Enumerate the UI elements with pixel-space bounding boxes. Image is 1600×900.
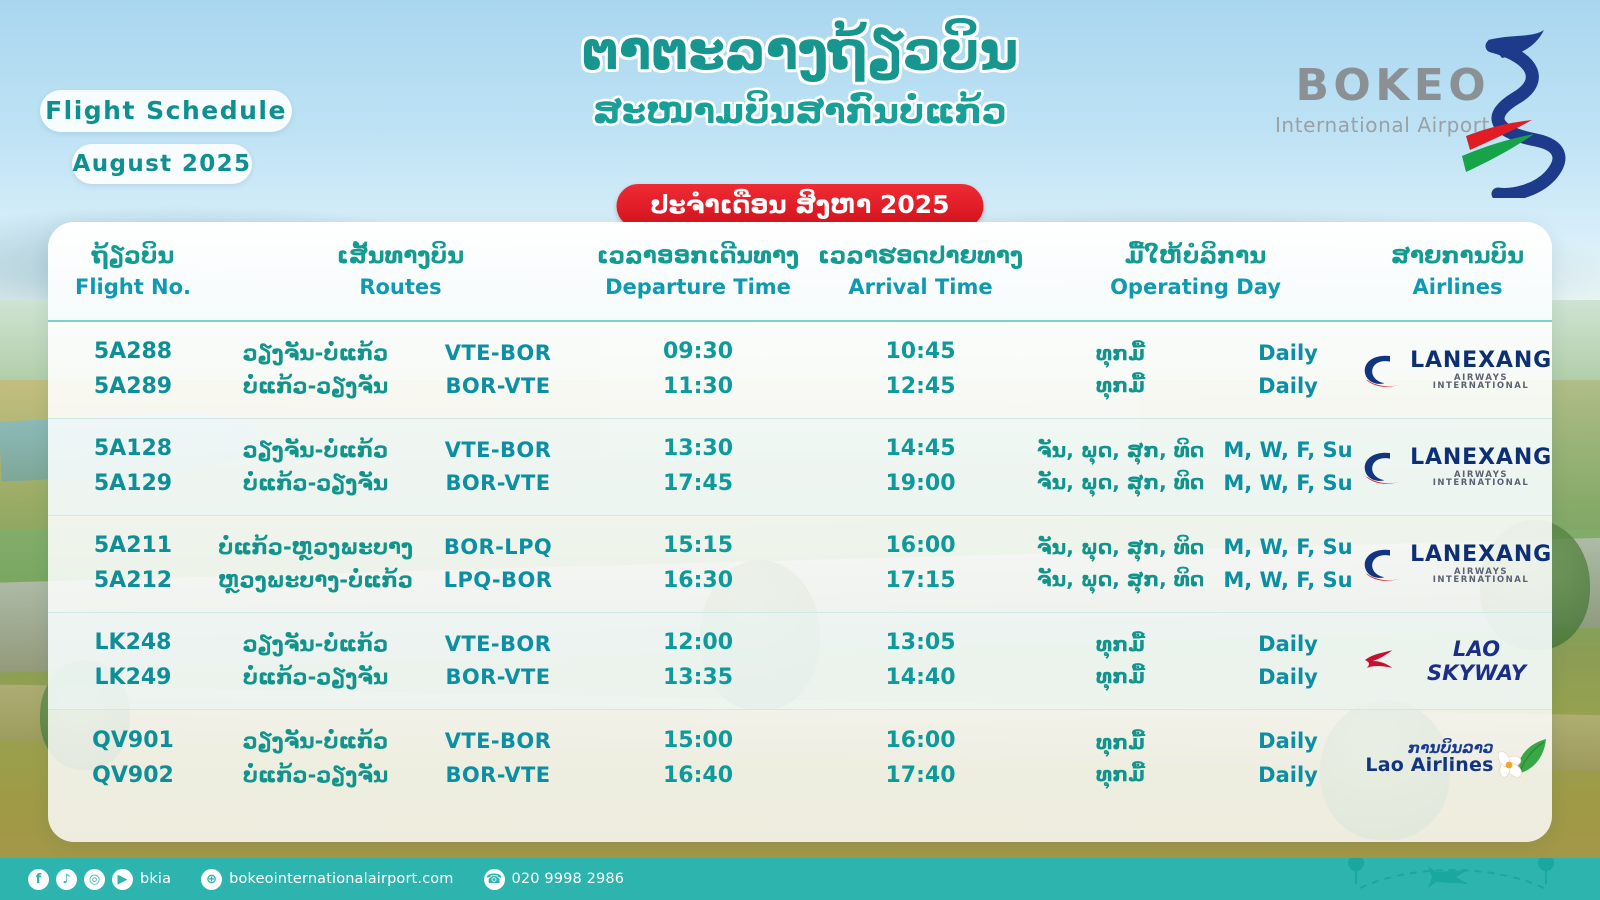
- facebook-icon[interactable]: f: [28, 869, 49, 890]
- cell-route-lao: ວຽງຈັນ-ບໍ່ແກ້ວບໍ່ແກ້ວ-ວຽງຈັນ: [218, 628, 413, 694]
- header-lao-label: ຖ້ຽວບິນ: [48, 243, 218, 269]
- page-header: Flight Schedule August 2025 ຕາຕະລາງຖ້ຽວບ…: [0, 0, 1600, 225]
- column-header-routes: ເສັ້ນທາງບິນ Routes: [218, 243, 583, 298]
- table-row: 5A2885A289ວຽງຈັນ-ບໍ່ແກ້ວບໍ່ແກ້ວ-ວຽງຈັນVT…: [48, 322, 1552, 419]
- flight-path-graphic: [1332, 858, 1572, 900]
- cell-route-lao: ບໍ່ແກ້ວ-ຫຼວງພະບາງຫຼວງພະບາງ-ບໍ່ແກ້ວ: [218, 531, 413, 597]
- lao-airlines-logo: ການບິນລາວLao Airlines: [1365, 736, 1549, 782]
- cell-operating-day-en: M, W, F, SuM, W, F, Su: [1213, 531, 1363, 597]
- lanexang-mark-icon: [1362, 350, 1403, 390]
- cell-operating-day-lao: ຈັນ, ພຸດ, ສຸກ, ທິດຈັນ, ພຸດ, ສຸກ, ທິດ: [1028, 435, 1213, 498]
- cell-departure-time: 15:1516:30: [583, 529, 813, 599]
- page-footer: f ♪ ◎ ▶ bkia ⊕ bokeointernationalairport…: [0, 858, 1600, 900]
- bokeo-airport-logo: BOKEO International Airport: [1240, 28, 1570, 198]
- header-en-label: Arrival Time: [813, 275, 1028, 299]
- instagram-icon[interactable]: ◎: [84, 869, 105, 890]
- cell-arrival-time: 16:0017:15: [813, 529, 1028, 599]
- cell-departure-time: 09:3011:30: [583, 335, 813, 405]
- cell-airline: ການບິນລາວLao Airlines: [1363, 728, 1552, 790]
- cell-arrival-time: 10:4512:45: [813, 335, 1028, 405]
- table-body: 5A2885A289ວຽງຈັນ-ບໍ່ແກ້ວບໍ່ແກ້ວ-ວຽງຈັນVT…: [48, 322, 1552, 807]
- flight-schedule-table: ຖ້ຽວບິນ Flight No. ເສັ້ນທາງບິນ Routes ເວ…: [48, 222, 1552, 842]
- phone-icon: ☎: [484, 869, 505, 890]
- cell-airline: LAO SKYWAY: [1363, 630, 1552, 692]
- cell-flight-no: QV901QV902: [48, 724, 218, 794]
- header-lao-label: ມື້ໃຫ້ບໍລິການ: [1028, 243, 1363, 269]
- column-header-airlines: ສາຍການບິນ Airlines: [1363, 243, 1552, 298]
- table-row: 5A1285A129ວຽງຈັນ-ບໍ່ແກ້ວບໍ່ແກ້ວ-ວຽງຈັນVT…: [48, 419, 1552, 516]
- month-pill: August 2025: [72, 144, 252, 184]
- website-url[interactable]: bokeointernationalairport.com: [229, 871, 453, 887]
- cell-route-code: VTE-BORBOR-VTE: [413, 337, 583, 403]
- header-en-label: Departure Time: [583, 275, 813, 299]
- cell-departure-time: 13:3017:45: [583, 432, 813, 502]
- lanexang-wordmark: LANEXANGAIRWAYS INTERNATIONAL: [1409, 447, 1552, 488]
- cell-operating-day-en: M, W, F, SuM, W, F, Su: [1213, 434, 1363, 500]
- lanexang-logo: LANEXANGAIRWAYS INTERNATIONAL: [1362, 447, 1552, 488]
- cell-airline: LANEXANGAIRWAYS INTERNATIONAL: [1363, 436, 1552, 498]
- column-header-operating-day: ມື້ໃຫ້ບໍລິການ Operating Day: [1028, 243, 1363, 298]
- table-row: LK248LK249ວຽງຈັນ-ບໍ່ແກ້ວບໍ່ແກ້ວ-ວຽງຈັນVT…: [48, 613, 1552, 710]
- lanexang-logo: LANEXANGAIRWAYS INTERNATIONAL: [1362, 544, 1552, 585]
- table-row: QV901QV902ວຽງຈັນ-ບໍ່ແກ້ວບໍ່ແກ້ວ-ວຽງຈັນVT…: [48, 710, 1552, 807]
- cell-operating-day-lao: ທຸກມື້ທຸກມື້: [1028, 727, 1213, 790]
- cell-route-lao: ວຽງຈັນ-ບໍ່ແກ້ວບໍ່ແກ້ວ-ວຽງຈັນ: [218, 337, 413, 403]
- lanexang-mark-icon: [1362, 447, 1403, 487]
- phone-number[interactable]: 020 9998 2986: [512, 871, 625, 887]
- cell-route-code: BOR-LPQLPQ-BOR: [413, 531, 583, 597]
- lao-skyway-logo: LAO SKYWAY: [1363, 637, 1552, 685]
- cell-operating-day-lao: ທຸກມື້ທຸກມື້: [1028, 338, 1213, 401]
- cell-arrival-time: 13:0514:40: [813, 626, 1028, 696]
- skyway-bird-icon: [1363, 648, 1396, 674]
- column-header-departure-time: ເວລາອອກເດີນທາງ Departure Time: [583, 243, 813, 298]
- header-en-label: Airlines: [1363, 275, 1552, 299]
- youtube-icon[interactable]: ▶: [112, 869, 133, 890]
- cell-flight-no: 5A2115A212: [48, 529, 218, 599]
- lao-airlines-wordmark: ການບິນລາວLao Airlines: [1365, 741, 1493, 777]
- cell-airline: LANEXANGAIRWAYS INTERNATIONAL: [1363, 533, 1552, 595]
- header-lao-label: ເສັ້ນທາງບິນ: [218, 243, 583, 269]
- plumeria-leaf-icon: [1498, 736, 1550, 782]
- cell-arrival-time: 14:4519:00: [813, 432, 1028, 502]
- table-row: 5A2115A212ບໍ່ແກ້ວ-ຫຼວງພະບາງຫຼວງພະບາງ-ບໍ່…: [48, 516, 1552, 613]
- header-en-label: Routes: [218, 275, 583, 299]
- cell-flight-no: 5A1285A129: [48, 432, 218, 502]
- cell-airline: LANEXANGAIRWAYS INTERNATIONAL: [1363, 339, 1552, 401]
- cell-route-code: VTE-BORBOR-VTE: [413, 628, 583, 694]
- cell-departure-time: 15:0016:40: [583, 724, 813, 794]
- website-link[interactable]: ⊕ bokeointernationalairport.com: [201, 869, 453, 890]
- header-en-label: Operating Day: [1028, 275, 1363, 299]
- header-lao-label: ສາຍການບິນ: [1363, 243, 1552, 269]
- cell-operating-day-en: DailyDaily: [1213, 337, 1363, 403]
- lanexang-wordmark: LANEXANGAIRWAYS INTERNATIONAL: [1409, 544, 1552, 585]
- social-handle: bkia: [140, 871, 171, 887]
- tiktok-icon[interactable]: ♪: [56, 869, 77, 890]
- cell-operating-day-lao: ທຸກມື້ທຸກມື້: [1028, 629, 1213, 692]
- column-header-flight-no: ຖ້ຽວບິນ Flight No.: [48, 243, 218, 298]
- cell-flight-no: LK248LK249: [48, 626, 218, 696]
- header-lao-label: ເວລາຮອດປາຍທາງ: [813, 243, 1028, 269]
- table-header-row: ຖ້ຽວບິນ Flight No. ເສັ້ນທາງບິນ Routes ເວ…: [48, 222, 1552, 322]
- bokeo-swoosh-icon: [1440, 28, 1570, 198]
- lanexang-wordmark: LANEXANGAIRWAYS INTERNATIONAL: [1409, 350, 1552, 391]
- column-header-arrival-time: ເວລາຮອດປາຍທາງ Arrival Time: [813, 243, 1028, 298]
- cell-operating-day-en: DailyDaily: [1213, 628, 1363, 694]
- lanexang-mark-icon: [1362, 544, 1403, 584]
- cell-operating-day-en: DailyDaily: [1213, 725, 1363, 791]
- cell-flight-no: 5A2885A289: [48, 335, 218, 405]
- globe-icon: ⊕: [201, 869, 222, 890]
- social-links[interactable]: f ♪ ◎ ▶ bkia: [28, 869, 171, 890]
- cell-departure-time: 12:0013:35: [583, 626, 813, 696]
- header-lao-label: ເວລາອອກເດີນທາງ: [583, 243, 813, 269]
- cell-operating-day-lao: ຈັນ, ພຸດ, ສຸກ, ທິດຈັນ, ພຸດ, ສຸກ, ທິດ: [1028, 532, 1213, 595]
- lanexang-logo: LANEXANGAIRWAYS INTERNATIONAL: [1362, 350, 1552, 391]
- cell-route-code: VTE-BORBOR-VTE: [413, 725, 583, 791]
- cell-route-lao: ວຽງຈັນ-ບໍ່ແກ້ວບໍ່ແກ້ວ-ວຽງຈັນ: [218, 434, 413, 500]
- cell-arrival-time: 16:0017:40: [813, 724, 1028, 794]
- cell-route-lao: ວຽງຈັນ-ບໍ່ແກ້ວບໍ່ແກ້ວ-ວຽງຈັນ: [218, 725, 413, 791]
- phone-contact[interactable]: ☎ 020 9998 2986: [484, 869, 625, 890]
- header-en-label: Flight No.: [48, 275, 218, 299]
- cell-route-code: VTE-BORBOR-VTE: [413, 434, 583, 500]
